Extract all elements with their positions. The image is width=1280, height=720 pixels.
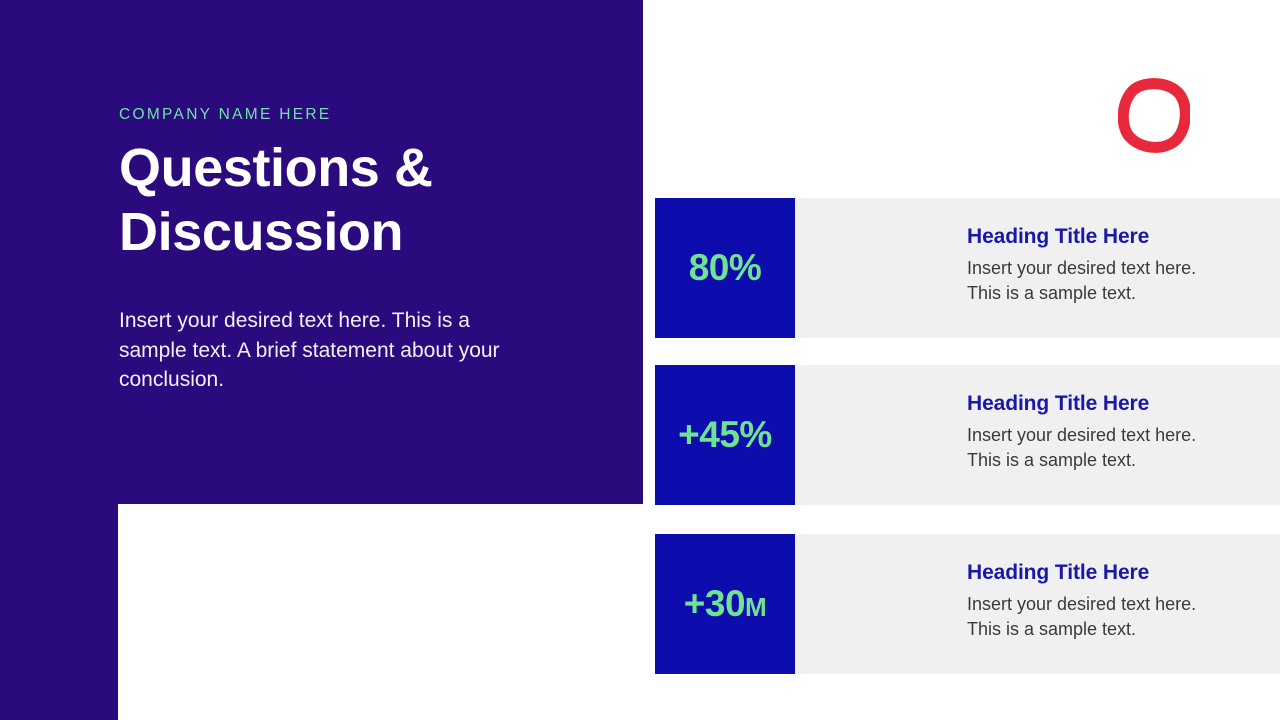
slide-canvas: COMPANY NAME HERE Questions & Discussion…	[0, 0, 1280, 720]
stat-card-text: Insert your desired text here. This is a…	[967, 256, 1280, 306]
stat-value-badge: +45%	[655, 365, 795, 505]
page-title: Questions & Discussion	[119, 136, 589, 264]
stat-card-text: Insert your desired text here. This is a…	[967, 423, 1280, 473]
page-title-line-1: Questions &	[119, 136, 589, 200]
stat-card-heading: Heading Title Here	[967, 561, 1280, 585]
stat-card-text-line-1: Insert your desired text here.	[967, 425, 1196, 445]
stat-card: +30M Heading Title Here Insert your desi…	[655, 534, 1280, 674]
stat-card-text-line-2: This is a sample text.	[967, 450, 1136, 470]
purple-left-strip-background	[0, 504, 118, 720]
stat-card-body: Heading Title Here Insert your desired t…	[795, 534, 1280, 674]
stat-card-text-line-1: Insert your desired text here.	[967, 594, 1196, 614]
stat-card-body: Heading Title Here Insert your desired t…	[795, 198, 1280, 338]
stat-value-badge: +30M	[655, 534, 795, 674]
stat-value: +45%	[678, 414, 772, 456]
stat-value: +30M	[684, 583, 766, 625]
stat-card-text-line-2: This is a sample text.	[967, 619, 1136, 639]
stat-card-text-line-2: This is a sample text.	[967, 283, 1136, 303]
stat-value-number: +30	[684, 583, 745, 624]
stat-value: 80%	[689, 247, 762, 289]
stat-card-body: Heading Title Here Insert your desired t…	[795, 365, 1280, 505]
stat-value-unit: M	[745, 592, 766, 622]
stat-card: +45% Heading Title Here Insert your desi…	[655, 365, 1280, 505]
rounded-square-ring-logo	[1118, 78, 1190, 154]
page-title-line-2: Discussion	[119, 200, 589, 264]
stat-card-heading: Heading Title Here	[967, 225, 1280, 249]
stat-card: 80% Heading Title Here Insert your desir…	[655, 198, 1280, 338]
stat-card-heading: Heading Title Here	[967, 392, 1280, 416]
stat-card-text-line-1: Insert your desired text here.	[967, 258, 1196, 278]
company-name-eyebrow: COMPANY NAME HERE	[119, 106, 332, 124]
stat-card-text: Insert your desired text here. This is a…	[967, 592, 1280, 642]
stat-value-badge: 80%	[655, 198, 795, 338]
slide-body-text: Insert your desired text here. This is a…	[119, 306, 533, 395]
